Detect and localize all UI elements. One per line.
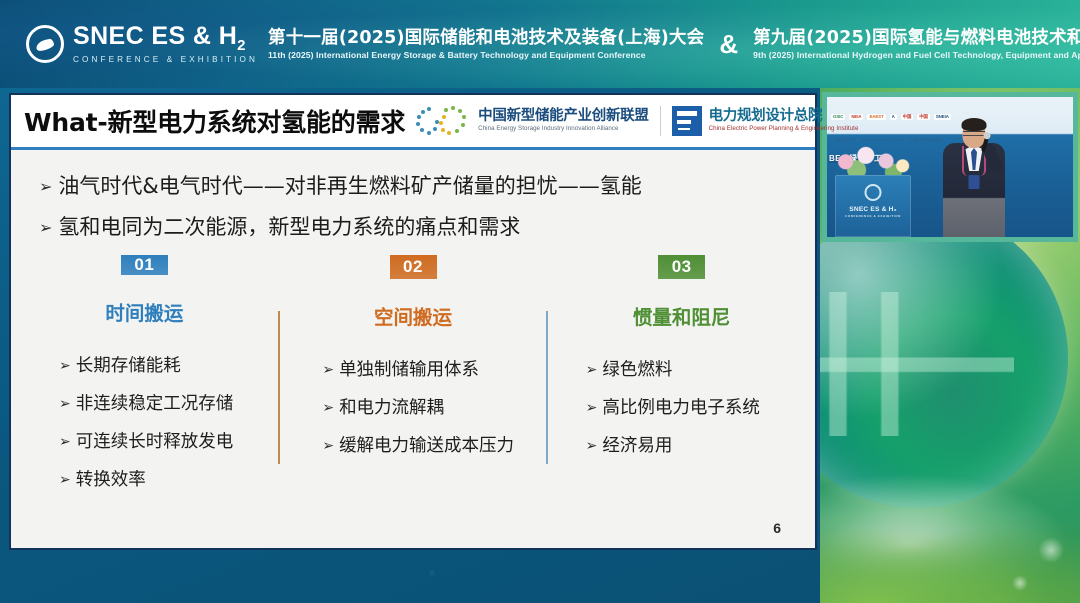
list-item: ➢ 高比例电力电子系统 xyxy=(586,394,815,419)
list-item-label: 缓解电力输送成本压力 xyxy=(339,432,514,457)
cepri-name-cn: 电力规划设计总院 xyxy=(709,109,859,124)
sponsor-chip: EAEST xyxy=(867,114,885,121)
top-bullet-list: ➢ 油气时代&电气时代——对非再生燃料矿产储量的担忧——氢能 ➢ 氢和电同为二次… xyxy=(11,150,815,241)
list-item-label: 单独制储输用体系 xyxy=(339,356,479,381)
sponsor-chip: 中国 xyxy=(917,114,930,121)
snec-logo-text: SNEC ES & H2 xyxy=(73,24,258,53)
bullet-arrow-icon: ➢ xyxy=(59,435,71,449)
speaker-badge xyxy=(969,175,980,189)
list-item-label: 非连续稳定工况存储 xyxy=(76,390,234,415)
bullet-arrow-icon: ➢ xyxy=(39,220,52,236)
list-item-label: 和电力流解耦 xyxy=(339,394,444,419)
bullet-arrow-icon: ➢ xyxy=(322,439,334,453)
slide-canvas: What-新型电力系统对氢能的需求 xyxy=(9,93,817,550)
list-item-label: 绿色燃料 xyxy=(602,356,672,381)
list-item: ➢ 转换效率 xyxy=(59,466,278,491)
list-item: ➢ 经济易用 xyxy=(586,432,815,457)
alliance-name-cn: 中国新型储能产业创新联盟 xyxy=(478,109,648,124)
three-column-section: 01 时间搬运 ➢ 长期存储能耗 ➢ 非连续稳定工况存储 ➢ 可连续长时释放发电 xyxy=(11,255,815,470)
video-stage-backdrop: GSIC NEIA EAEST A 中国 中国 SNEIA 上海交通大学 Stu… xyxy=(827,97,1073,237)
bullet-arrow-icon: ➢ xyxy=(322,363,334,377)
cepri-name-en: China Electric Power Planning & Engineer… xyxy=(709,126,859,133)
speaker-video-panel[interactable]: GSIC NEIA EAEST A 中国 中国 SNEIA 上海交通大学 Stu… xyxy=(822,92,1078,242)
column-heading: 时间搬运 xyxy=(105,297,183,326)
list-item-label: 长期存储能耗 xyxy=(76,352,181,377)
right-column: GSIC NEIA EAEST A 中国 中国 SNEIA 上海交通大学 Stu… xyxy=(820,88,1080,603)
top-bullet-text: 油气时代&电气时代——对非再生燃料矿产储量的担忧——氢能 xyxy=(58,170,641,200)
column-space-transfer: 02 空间搬运 ➢ 单独制储输用体系 ➢ 和电力流解耦 ➢ 缓解电力输送成本压力 xyxy=(280,255,547,470)
list-item: ➢ 可连续长时释放发电 xyxy=(59,428,278,453)
top-bullet-item: ➢ 油气时代&电气时代——对非再生燃料矿产储量的担忧——氢能 xyxy=(39,170,815,200)
conference-left: 第十一届(2025)国际储能和电池技术及装备(上海)大会 11th (2025)… xyxy=(268,28,704,60)
cepri-logo: 电力规划设计总院 China Electric Power Planning &… xyxy=(672,106,859,136)
column-time-transfer: 01 时间搬运 ➢ 长期存储能耗 ➢ 非连续稳定工况存储 ➢ 可连续长时释放发电 xyxy=(11,255,278,470)
alliance-name-en: China Energy Storage Industry Innovation… xyxy=(478,126,648,133)
sponsor-chip: 中国 xyxy=(901,114,914,121)
bullet-arrow-icon: ➢ xyxy=(586,401,598,415)
list-item: ➢ 缓解电力输送成本压力 xyxy=(322,432,546,457)
conference-left-en: 11th (2025) International Energy Storage… xyxy=(268,50,704,60)
column-number-badge: 03 xyxy=(658,255,705,279)
list-item-label: 转换效率 xyxy=(76,466,146,491)
sponsor-chip: A xyxy=(890,114,897,121)
snec-swirl-icon xyxy=(26,25,64,63)
conference-right-cn: 第九届(2025)国际氢能与燃料电池技术和装备及应用(上海)大会 xyxy=(753,28,1080,48)
list-item-label: 可连续长时释放发电 xyxy=(76,428,234,453)
alliance-mark-icon xyxy=(413,104,471,138)
list-item: ➢ 长期存储能耗 xyxy=(59,352,278,377)
event-banner: SNEC ES & H2 CONFERENCE & EXHIBITION 第十一… xyxy=(0,0,1080,88)
column-number-badge: 02 xyxy=(390,255,437,279)
glasses-icon xyxy=(963,131,985,136)
cepri-mark-icon xyxy=(672,106,702,136)
page-title: What-新型电力系统对氢能的需求 xyxy=(24,103,405,139)
column-heading: 空间搬运 xyxy=(374,301,452,330)
list-item: ➢ 绿色燃料 xyxy=(586,356,815,381)
column-inertia-damping: 03 惯量和阻尼 ➢ 绿色燃料 ➢ 高比例电力电子系统 ➢ 经济易用 xyxy=(548,255,815,470)
logo-divider xyxy=(660,106,661,136)
slide-title-bar: What-新型电力系统对氢能的需求 xyxy=(11,95,815,150)
cesiia-logo: 中国新型储能产业创新联盟 China Energy Storage Indust… xyxy=(413,104,648,138)
globe-sphere xyxy=(820,208,1068,508)
snec-logo-subscript: 2 xyxy=(237,37,246,54)
podium-label: SNEC ES & H₂ CONFERENCE & EXHIBITION xyxy=(835,206,911,218)
snec-logo-tagline: CONFERENCE & EXHIBITION xyxy=(73,56,258,64)
conference-right: 第九届(2025)国际氢能与燃料电池技术和装备及应用(上海)大会 9th (20… xyxy=(753,28,1080,60)
bokeh-dot-large xyxy=(1038,537,1064,563)
bullet-arrow-icon: ➢ xyxy=(59,397,71,411)
organization-logos: 中国新型储能产业创新联盟 China Energy Storage Indust… xyxy=(413,104,858,138)
column-item-list: ➢ 单独制储输用体系 ➢ 和电力流解耦 ➢ 缓解电力输送成本压力 xyxy=(280,356,547,470)
bokeh-dot-small xyxy=(1012,575,1028,591)
snec-logo: SNEC ES & H2 CONFERENCE & EXHIBITION xyxy=(26,24,258,64)
bullet-arrow-icon: ➢ xyxy=(59,473,71,487)
column-item-list: ➢ 绿色燃料 ➢ 高比例电力电子系统 ➢ 经济易用 xyxy=(548,356,815,470)
snec-logo-main: SNEC ES & H xyxy=(73,22,237,50)
top-bullet-item: ➢ 氢和电同为二次能源，新型电力系统的痛点和需求 xyxy=(39,211,815,241)
list-item-label: 经济易用 xyxy=(602,432,672,457)
podium-logo-icon xyxy=(865,184,882,201)
conference-right-en: 9th (2025) International Hydrogen and Fu… xyxy=(753,50,1080,60)
column-heading: 惯量和阻尼 xyxy=(633,301,731,330)
column-item-list: ➢ 长期存储能耗 ➢ 非连续稳定工况存储 ➢ 可连续长时释放发电 ➢ 转换效率 xyxy=(11,352,278,504)
list-item: ➢ 单独制储输用体系 xyxy=(322,356,546,381)
list-item-label: 高比例电力电子系统 xyxy=(602,394,760,419)
podium: SNEC ES & H₂ CONFERENCE & EXHIBITION xyxy=(835,175,911,237)
top-bullet-text: 氢和电同为二次能源，新型电力系统的痛点和需求 xyxy=(58,211,520,241)
bullet-arrow-icon: ➢ xyxy=(586,363,598,377)
bullet-arrow-icon: ➢ xyxy=(586,439,598,453)
page-number: 6 xyxy=(773,520,781,536)
podium-label-text: SNEC ES & H₂ xyxy=(849,206,896,213)
speaker-figure xyxy=(935,115,1013,237)
column-number-badge: 01 xyxy=(121,255,168,275)
list-item: ➢ 和电力流解耦 xyxy=(322,394,546,419)
bullet-arrow-icon: ➢ xyxy=(39,179,52,195)
list-item: ➢ 非连续稳定工况存储 xyxy=(59,390,278,415)
bullet-arrow-icon: ➢ xyxy=(59,359,71,373)
banner-ampersand: & xyxy=(714,29,743,60)
bullet-arrow-icon: ➢ xyxy=(322,401,334,415)
conference-left-cn: 第十一届(2025)国际储能和电池技术及装备(上海)大会 xyxy=(268,28,704,48)
podium-label-sub: CONFERENCE & EXHIBITION xyxy=(835,214,911,218)
speaker-hair xyxy=(962,118,987,131)
presentation-stage: SNEC ES & H2 CONFERENCE & EXHIBITION 第十一… xyxy=(0,0,1080,603)
